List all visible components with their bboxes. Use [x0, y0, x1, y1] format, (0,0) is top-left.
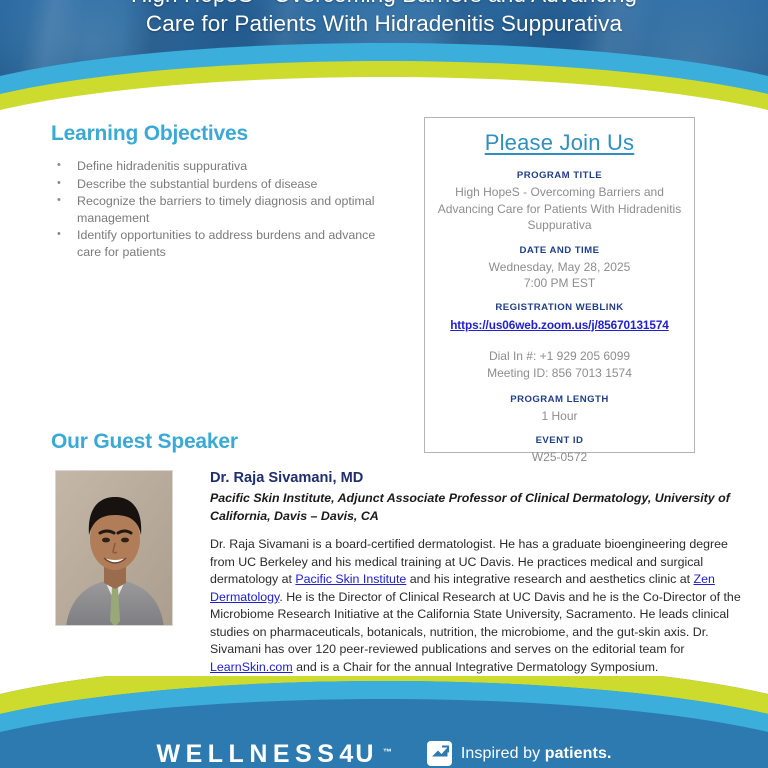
header-title-line2: Care for Patients With Hidradenitis Supp…: [0, 9, 768, 38]
speaker-name: Dr. Raja Sivamani, MD: [210, 470, 751, 486]
meeting-id: Meeting ID: 856 7013 1574: [435, 365, 684, 382]
date-and-time-value: Wednesday, May 28, 2025 7:00 PM EST: [435, 259, 684, 292]
join-box-title: Please Join Us: [435, 130, 684, 156]
dial-in-block: Dial In #: +1 929 205 6099 Meeting ID: 8…: [435, 348, 684, 382]
please-join-us-box: Please Join Us PROGRAM TITLE High HopeS …: [424, 117, 695, 453]
flyer-page: High HopeS - Overcoming Barriers and Adv…: [0, 0, 768, 768]
learning-objectives-heading: Learning Objectives: [51, 122, 391, 146]
inspired-by-patients-text: Inspired by patients.: [461, 745, 612, 763]
header-title-line1: High HopeS - Overcoming Barriers and Adv…: [0, 0, 768, 9]
list-item: Define hidradenitis suppurativa: [51, 158, 391, 175]
pacific-skin-institute-link[interactable]: Pacific Skin Institute: [295, 572, 406, 586]
inspired-by-patients-logo: Inspired by patients.: [427, 739, 612, 766]
header-title: High HopeS - Overcoming Barriers and Adv…: [0, 0, 768, 38]
registration-weblink[interactable]: https://us06web.zoom.us/j/85670131574: [450, 318, 669, 332]
footer-banner: WELLNESS4U™ Inspired by patients.: [0, 676, 768, 768]
date-and-time-label: DATE AND TIME: [435, 245, 684, 256]
program-length-label: PROGRAM LENGTH: [435, 394, 684, 405]
arrow-chart-icon: [427, 741, 452, 766]
top-wave-decoration: [0, 36, 768, 114]
time-value: 7:00 PM EST: [435, 275, 684, 292]
program-title-value: High HopeS - Overcoming Barriers and Adv…: [435, 184, 684, 234]
list-item: Identify opportunities to address burden…: [51, 227, 391, 260]
wellness-logo-four: 4: [339, 740, 355, 768]
learning-objectives-list: Define hidradenitis suppurativa Describe…: [51, 158, 391, 261]
inspired-brand-icon: [427, 741, 452, 766]
footer-logo-row: WELLNESS4U™ Inspired by patients.: [0, 734, 768, 768]
program-title-label: PROGRAM TITLE: [435, 170, 684, 181]
speaker-bio: Dr. Raja Sivamani is a board-certified d…: [210, 536, 751, 676]
registration-weblink-label: REGISTRATION WEBLINK: [435, 302, 684, 313]
inspired-bold-text: patients.: [545, 745, 612, 762]
program-length-value: 1 Hour: [435, 408, 684, 425]
speaker-portrait-image: [56, 471, 173, 626]
date-value: Wednesday, May 28, 2025: [435, 259, 684, 276]
learning-objectives-section: Learning Objectives Define hidradenitis …: [51, 122, 391, 262]
bio-text-4: and is a Chair for the annual Integrativ…: [293, 660, 659, 674]
learnskin-link[interactable]: LearnSkin.com: [210, 660, 293, 674]
main-content: Learning Objectives Define hidradenitis …: [0, 108, 768, 690]
dial-in-number: Dial In #: +1 929 205 6099: [435, 348, 684, 365]
wellness-logo-u: U: [355, 740, 379, 768]
speaker-photo: [55, 470, 173, 626]
speaker-affiliation: Pacific Skin Institute, Adjunct Associat…: [210, 490, 751, 525]
list-item: Describe the substantial burdens of dise…: [51, 176, 391, 193]
speaker-details: Dr. Raja Sivamani, MD Pacific Skin Insti…: [210, 470, 751, 676]
guest-speaker-section: Our Guest Speaker: [51, 430, 751, 676]
trademark-symbol: ™: [383, 737, 392, 767]
inspired-light-text: Inspired by: [461, 745, 545, 762]
guest-speaker-heading: Our Guest Speaker: [51, 430, 751, 454]
bio-text-2: and his integrative research and aesthet…: [406, 572, 693, 586]
wellness-logo-text: WELLNESS: [157, 740, 340, 768]
speaker-row: Dr. Raja Sivamani, MD Pacific Skin Insti…: [51, 470, 751, 676]
bio-text-3: . He is the Director of Clinical Researc…: [210, 590, 741, 657]
list-item: Recognize the barriers to timely diagnos…: [51, 193, 391, 226]
wellness4u-logo: WELLNESS4U™: [157, 739, 379, 768]
